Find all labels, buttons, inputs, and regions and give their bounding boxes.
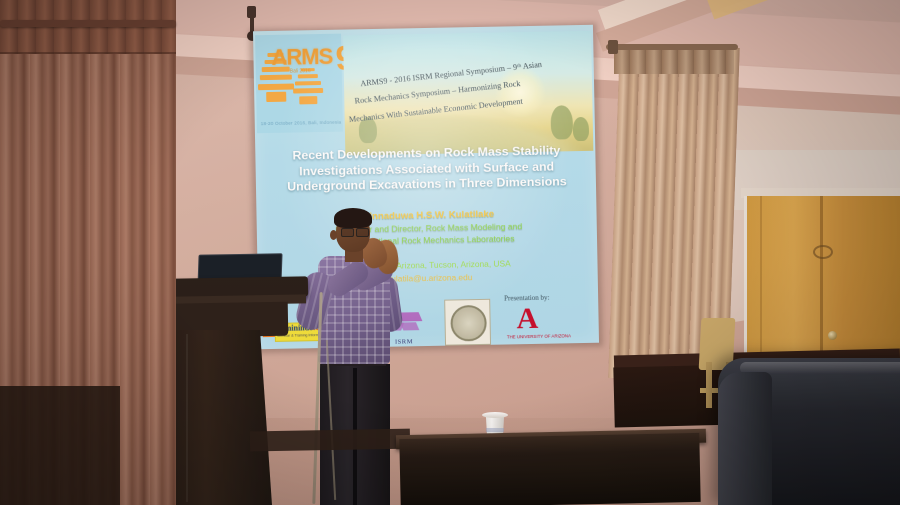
podium-highlight bbox=[186, 334, 188, 502]
speaker-ear bbox=[330, 230, 337, 240]
curtain-left-header bbox=[0, 0, 176, 54]
wooden-chair-leg-1 bbox=[706, 362, 712, 408]
speaker-glasses-right bbox=[356, 228, 369, 237]
curtain-rod-bracket-right bbox=[608, 40, 618, 54]
curtain-rod-left bbox=[0, 20, 176, 27]
paper-cup-rim bbox=[482, 412, 508, 418]
paper-cup-band bbox=[486, 428, 504, 432]
left-foreground-bench bbox=[0, 386, 120, 505]
door-knob[interactable] bbox=[828, 331, 837, 340]
curtain-rod-right bbox=[606, 44, 738, 50]
curtain-right-header bbox=[614, 48, 734, 74]
armchair-armrest bbox=[718, 372, 772, 505]
speaker-hair bbox=[334, 208, 372, 228]
door-ring-detail bbox=[813, 245, 833, 259]
mid-table bbox=[250, 429, 410, 452]
foreground-table bbox=[399, 433, 700, 505]
speaker-glasses-left bbox=[341, 228, 354, 237]
presentation-photo-scene: ARMS 9 Bali 2016 18-20 October 2016, Bal… bbox=[0, 0, 900, 505]
